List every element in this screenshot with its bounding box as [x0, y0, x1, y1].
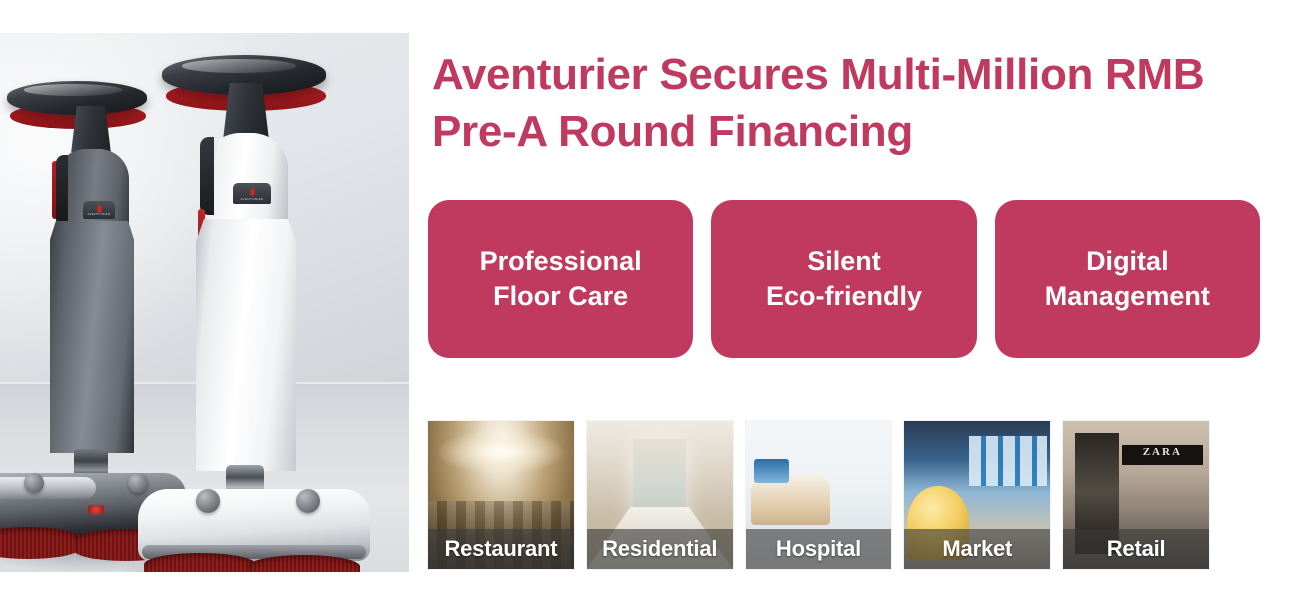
- feature-pill-digital-management[interactable]: Digital Management: [995, 200, 1260, 358]
- scene-label-restaurant: Restaurant: [428, 529, 574, 569]
- scene-thumbnail-hospital[interactable]: Hospital: [746, 421, 892, 569]
- feature-pill-professional-floor-care[interactable]: Professional Floor Care: [428, 200, 693, 358]
- grey-machine-vent: [56, 155, 68, 225]
- scene-thumbnail-residential[interactable]: Residential: [587, 421, 733, 569]
- white-machine-badge: AVENTURIER: [233, 183, 271, 204]
- white-machine-vent: [200, 137, 214, 215]
- white-machine-brush-left: [144, 553, 256, 572]
- product-photo: AVENTURIER: [0, 33, 409, 572]
- white-handle-highlight: [182, 59, 297, 73]
- scene-thumbnail-retail[interactable]: ZARA Retail: [1063, 421, 1209, 569]
- content-column: Aventurier Secures Multi-Million RMB Pre…: [428, 0, 1268, 607]
- scene-thumbnail-restaurant[interactable]: Restaurant: [428, 421, 574, 569]
- badge-wordmark: AVENTURIER: [83, 212, 115, 216]
- white-machine-column: [196, 219, 296, 471]
- scene-label-market: Market: [904, 529, 1050, 569]
- grey-handle-highlight: [24, 84, 122, 96]
- grey-machine-column: [50, 221, 134, 453]
- white-machine-wheel-left: [196, 489, 220, 513]
- page-title: Aventurier Secures Multi-Million RMB Pre…: [432, 46, 1222, 160]
- grey-machine-head-highlight: [0, 477, 96, 499]
- grey-machine-wheel-left: [24, 473, 44, 493]
- feature-pill-row: Professional Floor Care Silent Eco-frien…: [428, 200, 1260, 358]
- grey-machine-brush-left: [0, 527, 80, 559]
- scene-label-retail: Retail: [1063, 529, 1209, 569]
- feature-pill-silent-eco-friendly[interactable]: Silent Eco-friendly: [711, 200, 976, 358]
- scene-label-hospital: Hospital: [746, 529, 892, 569]
- scene-thumbnail-row: Restaurant Residential Hospital Market Z…: [428, 421, 1209, 569]
- badge-wordmark: AVENTURIER: [233, 197, 271, 201]
- scene-label-residential: Residential: [587, 529, 733, 569]
- white-machine-brush-right: [248, 555, 360, 572]
- grey-machine-badge: AVENTURIER: [83, 201, 115, 219]
- white-machine-wheel-right: [296, 489, 320, 513]
- financing-announcement-slide: AVENTURIER: [0, 0, 1300, 607]
- grey-machine-led: [88, 505, 104, 514]
- scene-thumbnail-market[interactable]: Market: [904, 421, 1050, 569]
- brand-flame-icon: [250, 188, 255, 196]
- zara-storefront-sign: ZARA: [1127, 446, 1197, 464]
- grey-machine-wheel-right: [128, 473, 148, 493]
